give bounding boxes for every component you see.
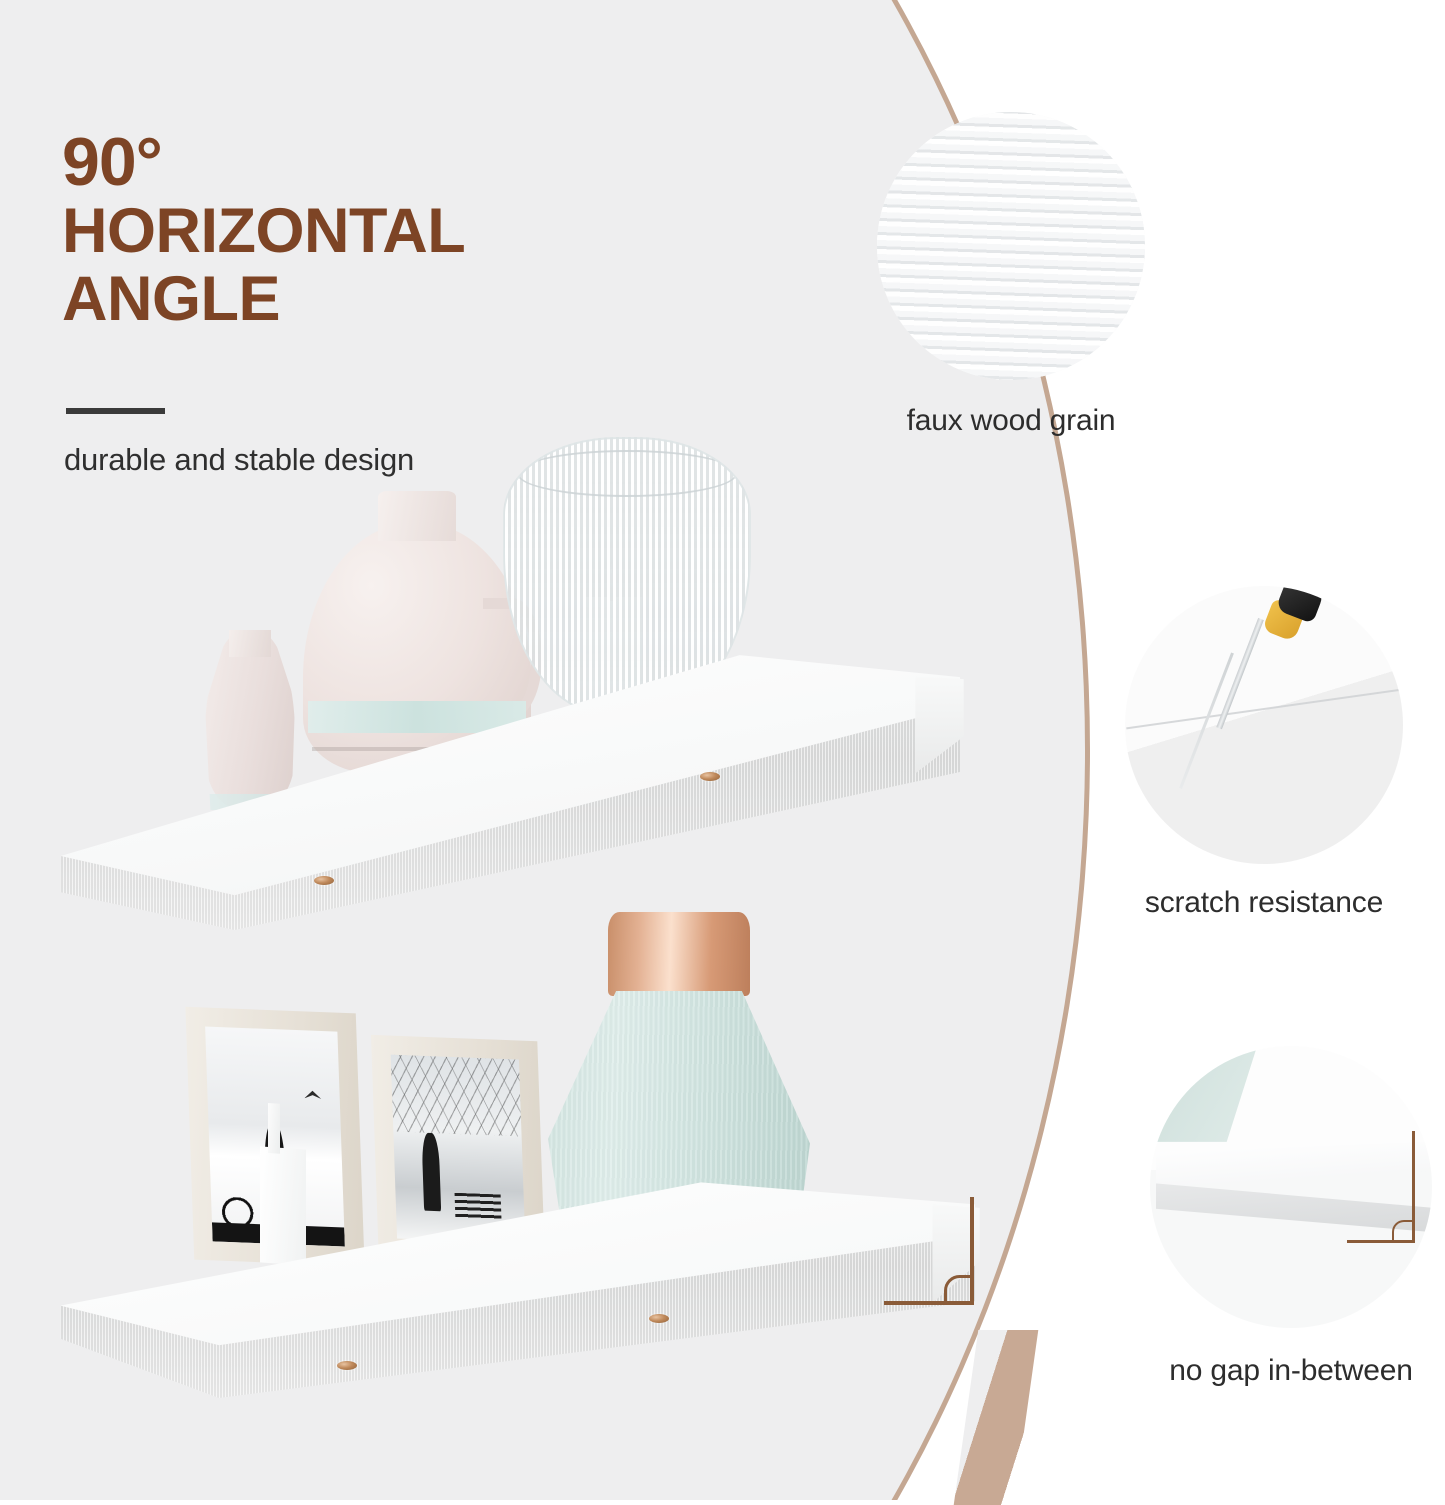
angle-marker-arc bbox=[1392, 1220, 1412, 1240]
angle-marker-horizontal-leg bbox=[1347, 1240, 1415, 1243]
right-angle-marker bbox=[884, 1197, 974, 1305]
lower-shelf bbox=[30, 1178, 975, 1398]
photo-bird bbox=[304, 1090, 321, 1099]
callout-no-gap-in-between: no gap in-between bbox=[1138, 1046, 1444, 1388]
hurricane-rim bbox=[517, 450, 737, 497]
angle-marker-vertical-leg bbox=[970, 1197, 974, 1305]
angle-marker-vertical-leg bbox=[1412, 1131, 1415, 1244]
copper-mint-vase bbox=[548, 912, 810, 1222]
callout-scratch-resistance: scratch resistance bbox=[1104, 586, 1424, 920]
callout-label-faux-wood-grain: faux wood grain bbox=[866, 404, 1156, 438]
callout-label-scratch-resistance: scratch resistance bbox=[1104, 886, 1424, 920]
product-feature-graphic: 90° HORIZONTAL ANGLE durable and stable … bbox=[0, 0, 1445, 1500]
headline-divider bbox=[66, 408, 165, 414]
upper-shelf-screw-hole-right bbox=[700, 772, 720, 781]
lower-shelf-screw-hole-left bbox=[337, 1361, 357, 1370]
white-candle-top bbox=[268, 1103, 280, 1154]
mint-vase-corner bbox=[1156, 1046, 1258, 1142]
jug-neck bbox=[378, 491, 456, 541]
scratch-resistance-swatch bbox=[1125, 586, 1403, 864]
wood-grain-swatch bbox=[877, 112, 1145, 380]
no-gap-swatch bbox=[1150, 1046, 1432, 1328]
angle-marker-arc bbox=[944, 1275, 970, 1301]
headline-block: 90° HORIZONTAL ANGLE bbox=[62, 128, 622, 333]
wood-grain-texture bbox=[877, 112, 1145, 380]
headline-line-2: HORIZONTAL bbox=[62, 197, 622, 265]
headline-line-3: ANGLE bbox=[62, 265, 622, 333]
angle-marker-horizontal-leg bbox=[884, 1301, 974, 1305]
right-angle-marker bbox=[1347, 1131, 1415, 1244]
photo-tree-branches bbox=[391, 1055, 522, 1137]
vase-copper-collar bbox=[608, 912, 749, 996]
headline-subtitle: durable and stable design bbox=[64, 442, 414, 478]
upper-shelf bbox=[30, 640, 960, 930]
surface-edge-line bbox=[1126, 689, 1402, 730]
headline-degree: 90° bbox=[62, 128, 622, 197]
callout-faux-wood-grain: faux wood grain bbox=[866, 112, 1156, 438]
callout-label-no-gap-in-between: no gap in-between bbox=[1138, 1354, 1444, 1388]
